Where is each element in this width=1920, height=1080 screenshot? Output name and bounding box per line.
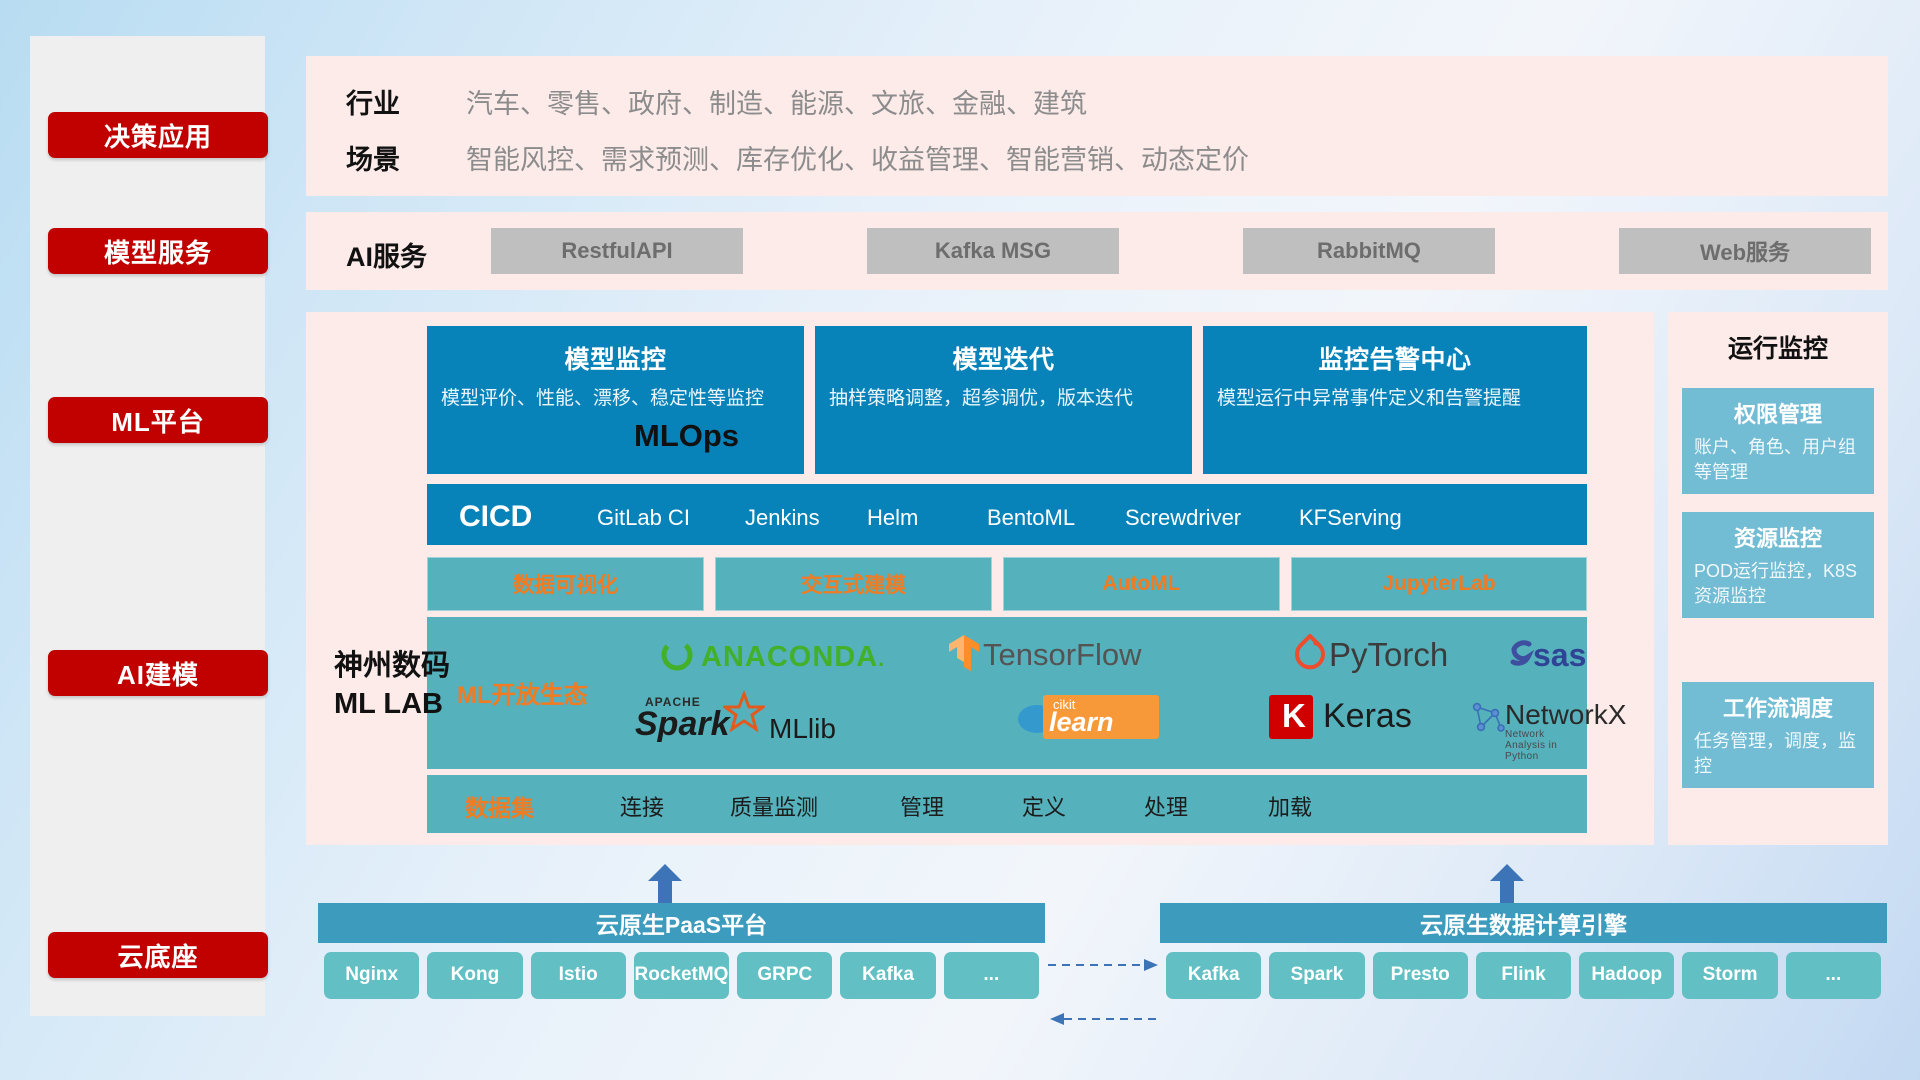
ml-lab-label-line2: ML LAB [334, 686, 450, 724]
dataset-label: 数据集 [465, 789, 534, 823]
cloud-group-compute: 云原生数据计算引擎 Kafka Spark Presto Flink Hadoo… [1160, 903, 1887, 1005]
cloud-group-title-paas: 云原生PaaS平台 [318, 903, 1045, 943]
apps-row-text-scenario: 智能风控、需求预测、库存优化、收益管理、智能营销、动态定价 [466, 138, 1249, 177]
networkx-tagline: Network Analysis in Python [1505, 729, 1587, 762]
keras-icon-letter: K [1282, 697, 1306, 735]
tool-box-jupyterlab[interactable]: JupyterLab [1291, 557, 1587, 611]
cloud-chip-kafka-2[interactable]: Kafka [1166, 952, 1261, 999]
dataset-item-manage[interactable]: 管理 [867, 790, 977, 822]
apps-row-label-scenario: 场景 [346, 138, 400, 177]
apps-row-label-industry: 行业 [346, 82, 400, 121]
cicd-item-gitlab-ci[interactable]: GitLab CI [597, 505, 693, 530]
anaconda-icon [659, 637, 695, 678]
tensorflow-wordmark: TensorFlow [983, 637, 1142, 673]
pytorch-wordmark: PyTorch [1329, 636, 1448, 674]
architecture-diagram: 决策应用 模型服务 ML平台 AI建模 云底座 行业 汽车、零售、政府、制造、能… [0, 0, 1920, 1080]
monitoring-card-resources[interactable]: 资源监控 POD运行监控，K8S资源监控 [1682, 512, 1874, 618]
dataset-item-load[interactable]: 加载 [1235, 790, 1345, 822]
cicd-item-helm[interactable]: Helm [867, 505, 963, 530]
tier-label-ai-modeling: AI建模 [48, 650, 268, 696]
ml-lab-section-label: 神州数码 ML LAB [334, 648, 450, 723]
cloud-chip-row-compute: Kafka Spark Presto Flink Hadoop Storm ..… [1160, 943, 1887, 1005]
arrow-up-compute-icon [1490, 864, 1524, 898]
tier-label-decision-apps: 决策应用 [48, 112, 268, 158]
mlops-card-model-iteration[interactable]: 模型迭代 抽样策略调整，超参调优，版本迭代 [815, 326, 1192, 474]
mllib-wordmark: MLlib [769, 713, 836, 745]
tensorflow-icon [947, 633, 981, 678]
service-box-kafka-msg[interactable]: Kafka MSG [867, 228, 1119, 274]
cicd-item-screwdriver[interactable]: Screwdriver [1125, 505, 1221, 530]
mlops-card-title: 模型迭代 [815, 326, 1192, 376]
cicd-item-jenkins[interactable]: Jenkins [745, 505, 841, 530]
dataset-item-quality[interactable]: 质量监测 [719, 790, 829, 822]
monitoring-card-workflow[interactable]: 工作流调度 任务管理，调度，监控 [1682, 682, 1874, 788]
scikit-learn-learn-text: learn [1049, 707, 1114, 738]
monitoring-card-title: 资源监控 [1682, 512, 1874, 553]
panel-ai-modeling: 数据可视化 交互式建模 AutoML JupyterLab ML开放生态 ANA… [306, 545, 1654, 845]
cloud-chip-kong[interactable]: Kong [427, 952, 522, 999]
pytorch-icon [1293, 634, 1327, 675]
keras-wordmark: Keras [1323, 697, 1412, 736]
tier-label-model-service: 模型服务 [48, 228, 268, 274]
arrow-up-paas-icon [648, 864, 682, 898]
mlops-card-alert-center[interactable]: 监控告警中心 模型运行中异常事件定义和告警提醒 [1203, 326, 1587, 474]
tool-box-automl[interactable]: AutoML [1003, 557, 1280, 611]
tier-rail [30, 36, 265, 1016]
monitoring-card-desc: POD运行监控，K8S资源监控 [1682, 553, 1874, 609]
service-box-restfulapi[interactable]: RestfulAPI [491, 228, 743, 274]
tier-label-cloud-base: 云底座 [48, 932, 268, 978]
anaconda-wordmark: ANACONDA. [701, 641, 885, 674]
spark-wordmark: Spark [635, 705, 730, 744]
service-box-web-service[interactable]: Web服务 [1619, 228, 1871, 274]
panel-mlops: 模型监控 模型评价、性能、漂移、稳定性等监控 模型迭代 抽样策略调整，超参调优，… [306, 312, 1654, 554]
monitoring-card-title: 权限管理 [1682, 388, 1874, 429]
cloud-chip-flink[interactable]: Flink [1476, 952, 1571, 999]
cloud-chip-row-paas: Nginx Kong Istio RocketMQ GRPC Kafka ... [318, 943, 1045, 1005]
service-box-rabbitmq[interactable]: RabbitMQ [1243, 228, 1495, 274]
arrow-right-dashed-icon [1048, 958, 1160, 960]
mlops-card-model-monitoring[interactable]: 模型监控 模型评价、性能、漂移、稳定性等监控 [427, 326, 804, 474]
cloud-chip-spark[interactable]: Spark [1269, 952, 1364, 999]
mlops-card-title: 模型监控 [427, 326, 804, 376]
ml-ecosystem-panel: ML开放生态 ANACONDA. TensorFlow [427, 617, 1587, 769]
cloud-group-paas: 云原生PaaS平台 Nginx Kong Istio RocketMQ GRPC… [318, 903, 1045, 1005]
cloud-chip-istio[interactable]: Istio [531, 952, 626, 999]
arrow-left-dashed-icon [1048, 1012, 1160, 1014]
mlops-card-title: 监控告警中心 [1203, 326, 1587, 376]
cloud-chip-rocketmq[interactable]: RocketMQ [634, 952, 729, 999]
cicd-heading: CICD [459, 500, 532, 534]
cloud-chip-more[interactable]: ... [944, 952, 1039, 999]
ml-lab-label-line1: 神州数码 [334, 648, 450, 686]
sas-wordmark: sas [1533, 637, 1586, 674]
monitoring-card-title: 工作流调度 [1682, 682, 1874, 723]
cicd-item-bentoml[interactable]: BentoML [987, 505, 1083, 530]
mlops-card-desc: 模型运行中异常事件定义和告警提醒 [1203, 376, 1587, 413]
monitoring-card-permissions[interactable]: 权限管理 账户、角色、用户组等管理 [1682, 388, 1874, 494]
monitoring-card-desc: 账户、角色、用户组等管理 [1682, 429, 1874, 485]
mlops-section-label: MLOps [634, 418, 739, 454]
panel-model-service: AI服务 RestfulAPI Kafka MSG RabbitMQ Web服务 [306, 212, 1888, 290]
cloud-chip-presto[interactable]: Presto [1373, 952, 1468, 999]
dataset-bar: 数据集 连接 质量监测 管理 定义 处理 加载 [427, 775, 1587, 833]
panel-decision-apps: 行业 汽车、零售、政府、制造、能源、文旅、金融、建筑 场景 智能风控、需求预测、… [306, 56, 1888, 196]
ai-service-label: AI服务 [346, 235, 427, 274]
cloud-chip-nginx[interactable]: Nginx [324, 952, 419, 999]
networkx-icon [1467, 697, 1507, 742]
monitoring-card-desc: 任务管理，调度，监控 [1682, 723, 1874, 779]
cloud-group-title-compute: 云原生数据计算引擎 [1160, 903, 1887, 943]
cloud-chip-hadoop[interactable]: Hadoop [1579, 952, 1674, 999]
cloud-chip-storm[interactable]: Storm [1682, 952, 1777, 999]
cloud-chip-more-2[interactable]: ... [1786, 952, 1881, 999]
tier-label-ml-platform: ML平台 [48, 397, 268, 443]
cicd-item-kfserving[interactable]: KFServing [1299, 505, 1395, 530]
tool-box-interactive-modeling[interactable]: 交互式建模 [715, 557, 992, 611]
mlops-card-desc: 模型评价、性能、漂移、稳定性等监控 [427, 376, 804, 413]
apps-row-text-industry: 汽车、零售、政府、制造、能源、文旅、金融、建筑 [466, 82, 1087, 121]
dataset-item-process[interactable]: 处理 [1111, 790, 1221, 822]
cloud-chip-grpc[interactable]: GRPC [737, 952, 832, 999]
mlops-card-desc: 抽样策略调整，超参调优，版本迭代 [815, 376, 1192, 413]
dataset-item-define[interactable]: 定义 [989, 790, 1099, 822]
tool-box-data-visualization[interactable]: 数据可视化 [427, 557, 704, 611]
monitoring-heading: 运行监控 [1668, 312, 1888, 365]
networkx-wordmark: NetworkX [1505, 699, 1626, 731]
panel-runtime-monitoring: 运行监控 权限管理 账户、角色、用户组等管理 资源监控 POD运行监控，K8S资… [1668, 312, 1888, 845]
ml-ecosystem-label: ML开放生态 [457, 675, 588, 710]
dataset-item-connect[interactable]: 连接 [587, 790, 697, 822]
cloud-chip-kafka[interactable]: Kafka [840, 952, 935, 999]
